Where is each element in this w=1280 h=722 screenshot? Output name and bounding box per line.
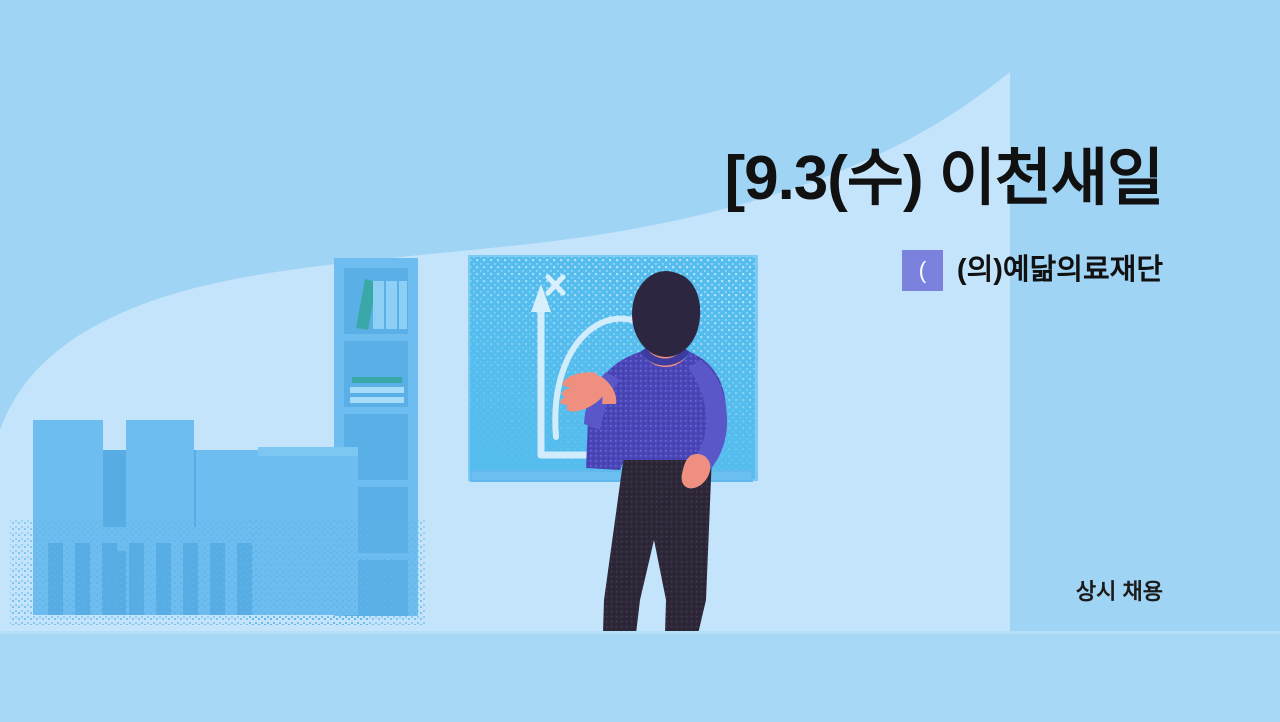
floor-line — [0, 633, 1280, 722]
company-logo-icon: ( — [902, 250, 943, 291]
radiator-building — [10, 420, 280, 625]
floor-edge — [0, 631, 1280, 634]
company-row[interactable]: ( (의)예닮의료재단 — [902, 250, 1163, 291]
status-badge: 상시 채용 — [1076, 578, 1163, 606]
job-posting-banner: [9.3(수) 이천새일 ( (의)예닮의료재단 상시 채용 — [0, 0, 1280, 722]
page-title: [9.3(수) 이천새일 — [724, 136, 1163, 222]
company-name: (의)예닮의료재단 — [957, 250, 1163, 291]
illustration-scene — [0, 0, 1280, 722]
